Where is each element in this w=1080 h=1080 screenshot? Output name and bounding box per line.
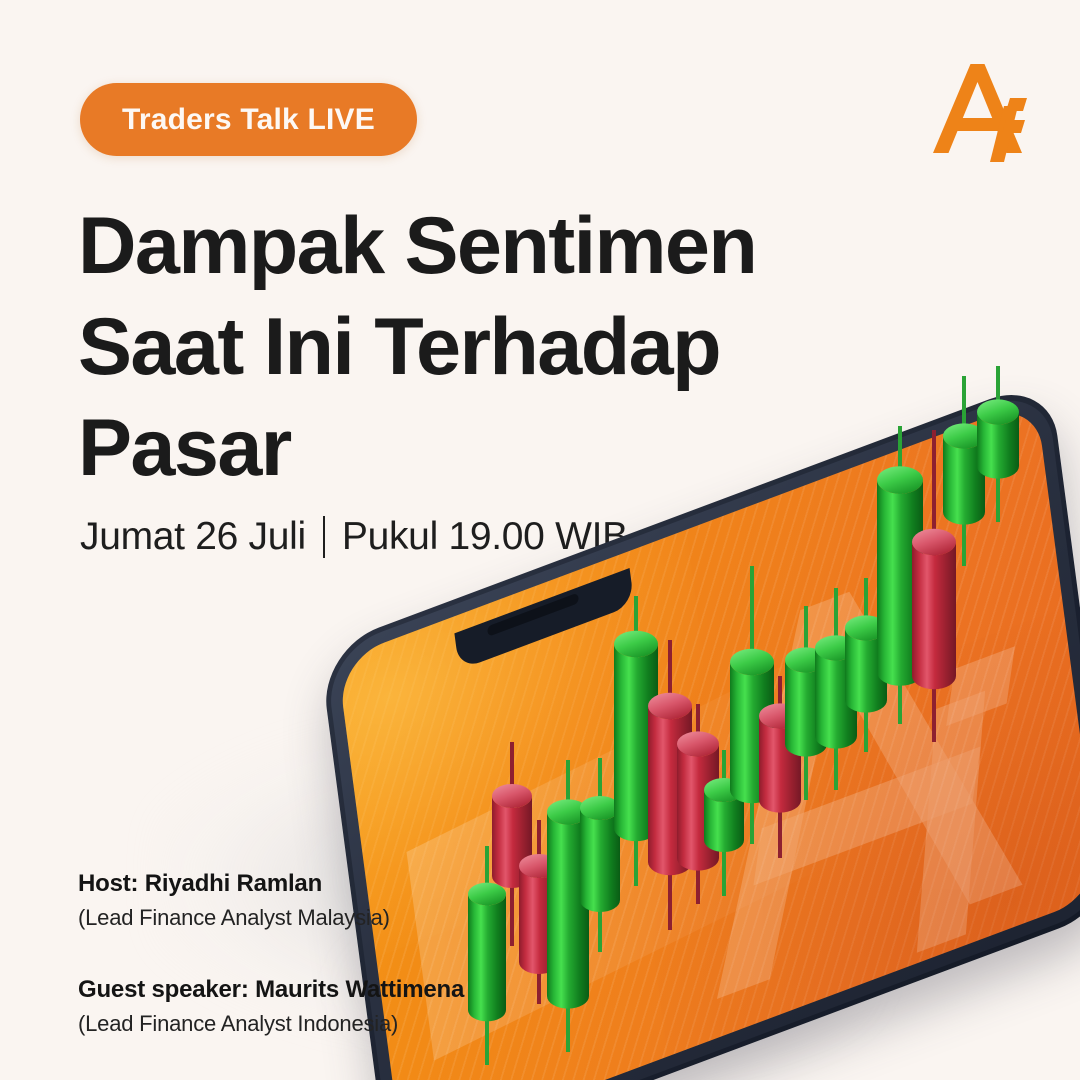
octa-a-watermark-icon [649, 496, 1079, 1033]
credit-name: Guest speaker: Maurits Wattimena [78, 974, 598, 1006]
live-badge-label: Traders Talk LIVE [122, 103, 375, 137]
page-title: Dampak Sentimen Saat Ini Terhadap Pasar [78, 196, 838, 499]
schedule-line: Jumat 26 Juli Pukul 19.00 WIB [80, 515, 628, 559]
live-badge[interactable]: Traders Talk LIVE [80, 83, 417, 156]
credit-host: Host: Riyadhi Ramlan (Lead Finance Analy… [78, 868, 598, 934]
credits-block: Host: Riyadhi Ramlan (Lead Finance Analy… [78, 868, 598, 1040]
credit-guest: Guest speaker: Maurits Wattimena (Lead F… [78, 974, 598, 1040]
headline-line-1: Dampak Sentimen [78, 196, 838, 297]
schedule-date: Jumat 26 Juli [80, 515, 306, 559]
credit-name: Host: Riyadhi Ramlan [78, 868, 598, 900]
schedule-separator [323, 516, 325, 558]
octa-a-logo-icon [926, 58, 1034, 162]
credit-role: (Lead Finance Analyst Malaysia) [78, 902, 598, 934]
promo-poster: Traders Talk LIVE Dampak Sentimen Saat I… [0, 0, 1080, 1080]
credit-role: (Lead Finance Analyst Indonesia) [78, 1008, 598, 1040]
headline-line-2: Saat Ini Terhadap [78, 297, 838, 398]
headline-line-3: Pasar [78, 398, 838, 499]
